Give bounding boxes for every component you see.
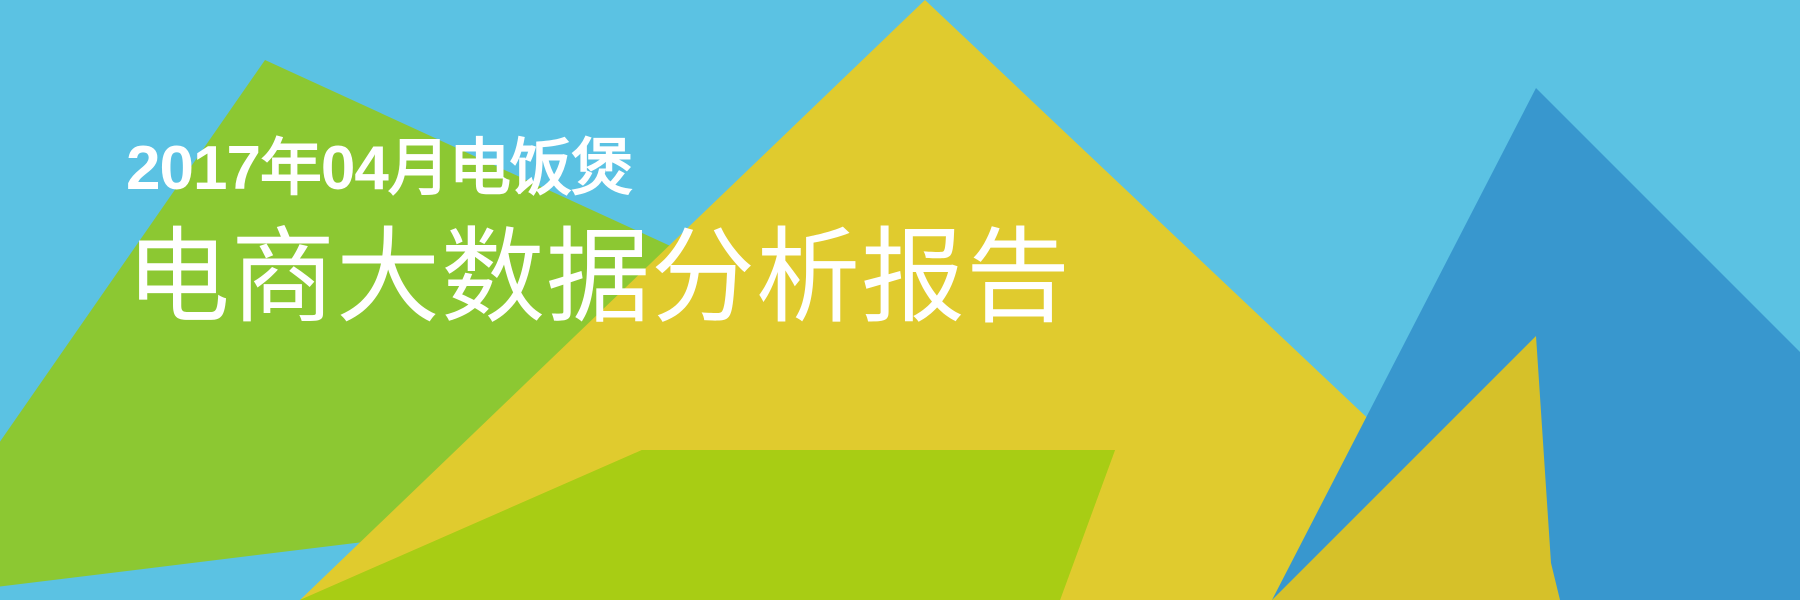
page-title-line-1: 2017年04月电饭煲 [126, 138, 1071, 214]
page-title-line-2: 电商大数据分析报告 [126, 226, 1071, 330]
banner-title-block: 2017年04月电饭煲 电商大数据分析报告 [126, 138, 1071, 330]
report-cover-banner: 2017年04月电饭煲 电商大数据分析报告 [0, 0, 1800, 600]
